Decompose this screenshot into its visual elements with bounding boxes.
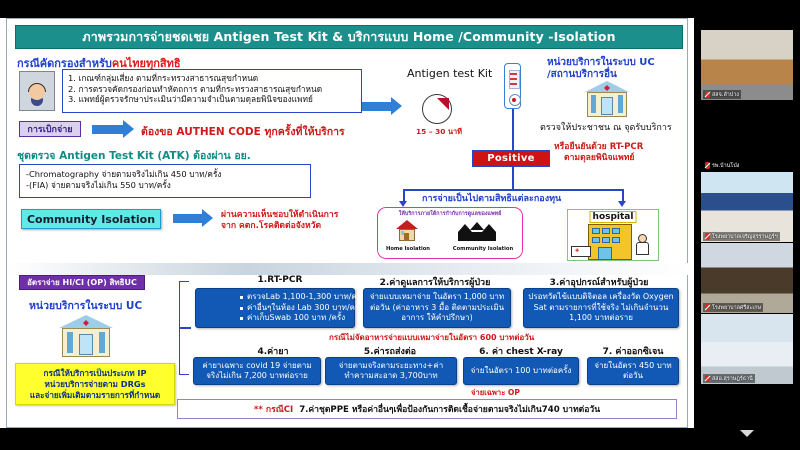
- item-1-bullet-2: ค่าอื่นๆในห้อง Lab 300 บาท/ครั้ง: [239, 303, 365, 314]
- disbursement-chip: การเบิกจ่าย: [19, 121, 81, 137]
- item-2-card: จ่ายแบบเหมาจ่าย ในอัตรา 1,000 บาทต่อวัน …: [363, 288, 511, 328]
- community-isolation-chip: Community Isolation: [21, 209, 161, 229]
- uc-service-building-icon-lower: [59, 315, 113, 357]
- item-7-card: จ่ายในอัตรา 450 บาทต่อวัน: [587, 357, 679, 385]
- criteria-2: 2. การตรวจคัดกรองก่อนทำหัตถการ ตามที่กระ…: [68, 84, 356, 95]
- slide-canvas: ภาพรวมการจ่ายชดเชย Antigen Test Kit & บร…: [6, 18, 688, 428]
- ambulance-icon: ✚: [571, 246, 591, 257]
- ci-approval-line2: จาก คตก.โรคติดต่อจังหวัด: [221, 218, 321, 232]
- uc-heading-line2: /สถานบริการอื่น: [547, 67, 617, 82]
- item-1-card: ตรวจLab 1,100-1,300 บาท/ครั้ง ค่าอื่นๆใน…: [195, 288, 355, 328]
- ip-drg-note: กรณีให้บริการเป็นประเภท IP หน่วยบริการจ่…: [15, 363, 175, 405]
- presentation-slide: ภาพรวมการจ่ายชดเชย Antigen Test Kit & บร…: [0, 0, 694, 450]
- home-isolation-label: Home Isolation: [384, 246, 432, 252]
- home-isolation-icon: [396, 220, 418, 242]
- timer-label: 15 – 30 นาที: [416, 126, 462, 138]
- item-6-card: จ่ายในอัตรา 100 บาทต่อครั้ง: [463, 357, 579, 385]
- item-6-title: 6. ค่า chest X-ray: [461, 344, 581, 358]
- item-3-title: 3.ค่าอุปกรณ์สำหรับผู้ป่วย: [519, 275, 679, 289]
- participant-name: รพ.บ้านโป่ง: [712, 162, 739, 170]
- participant-label: โรงพยาบาลศรีสะเกษ: [703, 303, 763, 312]
- ip-note-2: หน่วยบริการจ่ายตาม DRGs: [30, 379, 160, 390]
- screening-criteria-box: 1. เกณฑ์กลุ่มเสี่ยง ตามที่กระทรวงสาธารณส…: [62, 69, 362, 113]
- participant-tile[interactable]: สสอ.สุราษฎร์ธานี: [701, 314, 793, 384]
- slide-title: ภาพรวมการจ่ายชดเชย Antigen Test Kit & บร…: [15, 25, 683, 49]
- op-only-note: จ่ายเฉพาะ OP: [471, 387, 520, 399]
- ppe-note-red: ** กรณีCI: [254, 402, 293, 416]
- payment-by-fund-note: การจ่ายเป็นไปตามสิทธิแต่ละกองทุน: [422, 191, 561, 205]
- mic-muted-icon: [705, 304, 710, 311]
- section-divider: [7, 263, 689, 275]
- participant-tile[interactable]: โรงพยาบาลเจริญสุรราษฎร์ฯ: [701, 172, 793, 242]
- item-3-card: ปรอทวัดไข้แบบดิจิตอล เครื่องวัด Oxygen S…: [523, 288, 679, 328]
- item-1-bullets: ตรวจLab 1,100-1,300 บาท/ครั้ง ค่าอื่นๆใน…: [199, 292, 365, 324]
- isolation-box: ให้บริการภายใต้การกำกับการดูแลของแพทย์ H…: [377, 207, 523, 259]
- video-participant-rail[interactable]: สสจ.ลำปาง รพ.บ้านโป่ง โรงพยาบาลเจริญสุรร…: [694, 0, 800, 450]
- item-1-bullet-3: ค่าเก็บSwab 100 บาท /ครั้ง: [239, 313, 365, 324]
- atk-heading: ชุดตรวจ Antigen Test Kit (ATK) ต้องผ่าน …: [17, 147, 251, 164]
- screen: ภาพรวมการจ่ายชดเชย Antigen Test Kit & บร…: [0, 0, 800, 450]
- item-1-title: 1.RT-PCR: [205, 275, 355, 285]
- mic-muted-icon: [705, 375, 710, 382]
- mic-muted-icon: [705, 91, 710, 98]
- participant-name: โรงพยาบาลเจริญสุรราษฎร์ฯ: [712, 233, 778, 241]
- community-isolation-icon: [458, 224, 502, 242]
- slide-bottom-letterbox: [0, 428, 694, 450]
- item-5-card: จ่ายตามจริงตามระยะทาง+ค่าทำความสะอาด 3,7…: [325, 357, 457, 385]
- uc-unit-lower-label: หน่วยบริการในระบบ UC: [29, 297, 142, 314]
- hospital-label: hospital: [590, 211, 637, 223]
- criteria-1: 1. เกณฑ์กลุ่มเสี่ยง ตามที่กระทรวงสาธารณส…: [68, 73, 356, 84]
- photo-face: [29, 84, 45, 100]
- community-isolation-label: Community Isolation: [450, 246, 516, 252]
- ppe-note-black: 7.ค่าชุดPPE หรือค่าอื่นๆเพื่อป้องกันการต…: [299, 402, 600, 416]
- uc-caption: ตรวจให้ประชาชน ณ จุดรับบริการ: [540, 120, 672, 134]
- mic-muted-icon: [705, 233, 710, 240]
- criteria-3: 3. แพทย์ผู้ตรวจรักษาประเมินว่ามีความจำเป…: [68, 94, 356, 105]
- item-4-card: ค่ายาเฉพาะ covid 19 จ่ายตามจริงไม่เกิน 7…: [193, 357, 321, 385]
- participant-name: สสอ.สุราษฎร์ธานี: [712, 375, 753, 383]
- participant-label: รพ.บ้านโป่ง: [703, 161, 741, 170]
- arrow-right-community: [173, 209, 213, 228]
- chevron-down-icon[interactable]: [740, 430, 754, 437]
- uc-service-building-icon: [585, 81, 629, 117]
- flow-arrow-right: [618, 201, 626, 207]
- participant-label: สสอ.สุราษฎร์ธานี: [703, 374, 755, 383]
- participant-name: โรงพยาบาลศรีสะเกษ: [712, 304, 761, 312]
- participant-tile[interactable]: สสจ.ลำปาง: [701, 30, 793, 100]
- item-5-title: 5.ค่ารถส่งต่อ: [325, 344, 455, 358]
- positive-badge: Positive: [472, 150, 550, 167]
- brace-stem: [179, 327, 191, 329]
- arrow-right-disbursement: [92, 120, 134, 139]
- rtpcr-note-2: ตามดุลยพินิจแพทย์: [564, 150, 634, 164]
- person-photo: [19, 71, 55, 111]
- atk-rate-1: -Chromatography จ่ายตามจริงไม่เกิน 450 บ…: [26, 169, 304, 180]
- item-2-title: 2.ค่าดูแลการให้บริการผู้ป่วย: [355, 275, 515, 289]
- food-note: กรณีไม่จัดอาหารจ่ายแบบเหมาจ่ายในอัตรา 60…: [329, 331, 534, 344]
- ip-note-1: กรณีให้บริการเป็นประเภท IP: [30, 368, 160, 379]
- arrow-right-to-kit: [362, 97, 402, 116]
- item-1-bullet-1: ตรวจLab 1,100-1,300 บาท/ครั้ง: [239, 292, 365, 303]
- rate-chip: อัตราจ่าย HI/CI (OP) สิทธิUC: [19, 275, 145, 290]
- participant-tile[interactable]: โรงพยาบาลศรีสะเกษ: [701, 243, 793, 313]
- item-7-title: 7. ค่าออกซิเจน: [583, 344, 683, 358]
- atk-rates-box: -Chromatography จ่ายตามจริงไม่เกิน 450 บ…: [19, 164, 311, 198]
- mic-muted-icon: [705, 162, 710, 169]
- participant-tile[interactable]: รพ.บ้านโป่ง: [701, 101, 793, 171]
- hospital-illustration: hospital ✚: [567, 209, 659, 261]
- flow-line-below-positive: [512, 167, 514, 189]
- participant-label: โรงพยาบาลเจริญสุรราษฎร์ฯ: [703, 232, 780, 241]
- atk-device-icon: [504, 63, 521, 109]
- atk-rate-2: -(FIA) จ่ายตามจริงไม่เกิน 550 บาท/ครั้ง: [26, 180, 304, 191]
- item-4-title: 4.ค่ายา: [203, 344, 343, 358]
- ppe-note-box: ** กรณีCI 7.ค่าชุดPPE หรือค่าอื่นๆเพื่อป…: [177, 399, 677, 419]
- participant-label: สสจ.ลำปาง: [703, 90, 741, 99]
- participant-name: สสจ.ลำปาง: [712, 91, 739, 99]
- ip-note-3: และจ่ายเพิ่มเติมตามรายการที่กำหนด: [30, 390, 160, 401]
- authen-code-text: ต้องขอ AUTHEN CODE ทุกครั้งที่ให้บริการ: [141, 123, 345, 140]
- antigen-kit-label: Antigen test Kit: [407, 67, 492, 80]
- isolation-caption: ให้บริการภายใต้การกำกับการดูแลของแพทย์: [378, 210, 522, 218]
- timer-icon: [422, 94, 452, 124]
- slide-top-letterbox: [0, 0, 694, 18]
- flow-line-to-positive: [512, 109, 514, 151]
